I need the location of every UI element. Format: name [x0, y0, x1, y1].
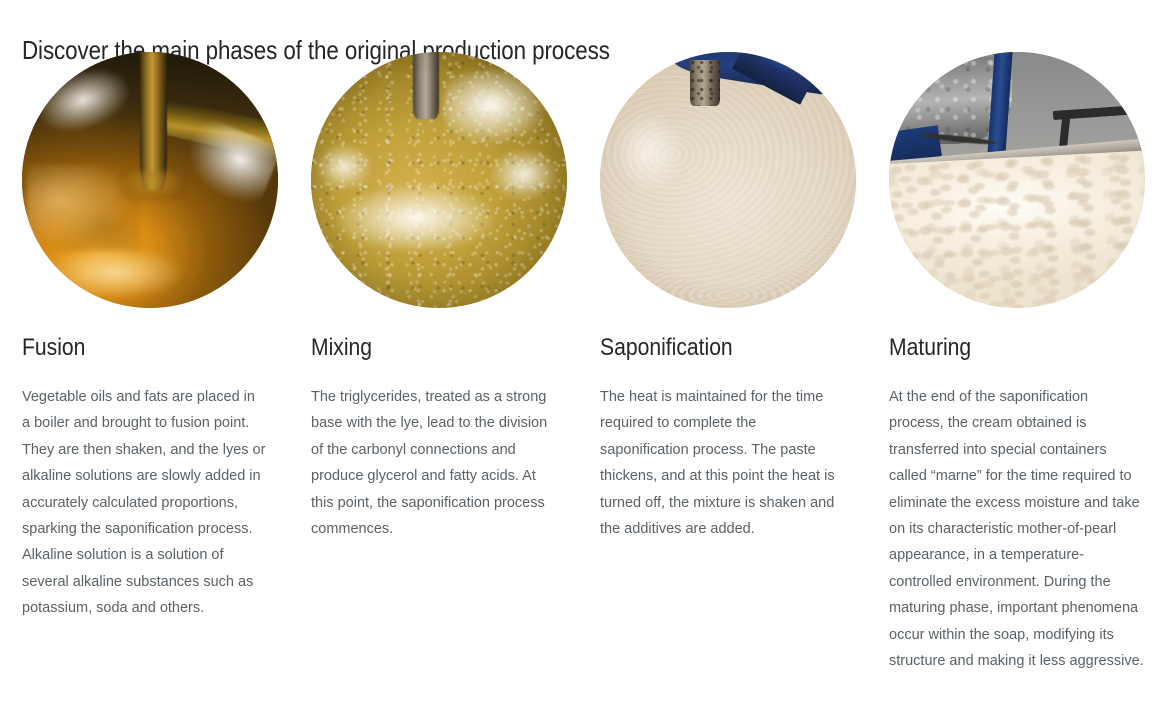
phase-title-fusion: Fusion [22, 334, 238, 362]
phase-text-mixing: The triglycerides, treated as a strong b… [311, 384, 556, 542]
vignette-overlay [311, 52, 567, 308]
highlight-reflection [48, 247, 181, 298]
maturing-photo-circle [889, 52, 1145, 308]
fusion-photo-circle [22, 52, 278, 308]
production-process-section: Discover the main phases of the original… [0, 0, 1170, 723]
phase-image-saponification [600, 52, 856, 308]
phase-image-mixing [311, 52, 567, 308]
phase-text-fusion: Vegetable oils and fats are placed in a … [22, 384, 267, 622]
vignette-overlay [600, 52, 856, 308]
mixing-photo-circle [311, 52, 567, 308]
phase-card-fusion: Fusion Vegetable oils and fats are place… [0, 52, 289, 674]
phase-image-fusion [22, 52, 278, 308]
oil-swirl [27, 165, 140, 252]
phase-card-saponification: Saponification The heat is maintained fo… [578, 52, 867, 674]
phase-columns: Fusion Vegetable oils and fats are place… [0, 52, 1170, 674]
saponification-photo-circle [600, 52, 856, 308]
phase-text-saponification: The heat is maintained for the time requ… [600, 384, 845, 542]
phase-card-mixing: Mixing The triglycerides, treated as a s… [289, 52, 578, 674]
vignette-overlay [889, 52, 1145, 308]
phase-card-maturing: Maturing At the end of the saponificatio… [867, 52, 1170, 674]
phase-title-maturing: Maturing [889, 334, 1117, 362]
phase-text-maturing: At the end of the saponification process… [889, 384, 1145, 674]
phase-title-saponification: Saponification [600, 334, 816, 362]
phase-image-maturing [889, 52, 1145, 308]
phase-title-mixing: Mixing [311, 334, 527, 362]
